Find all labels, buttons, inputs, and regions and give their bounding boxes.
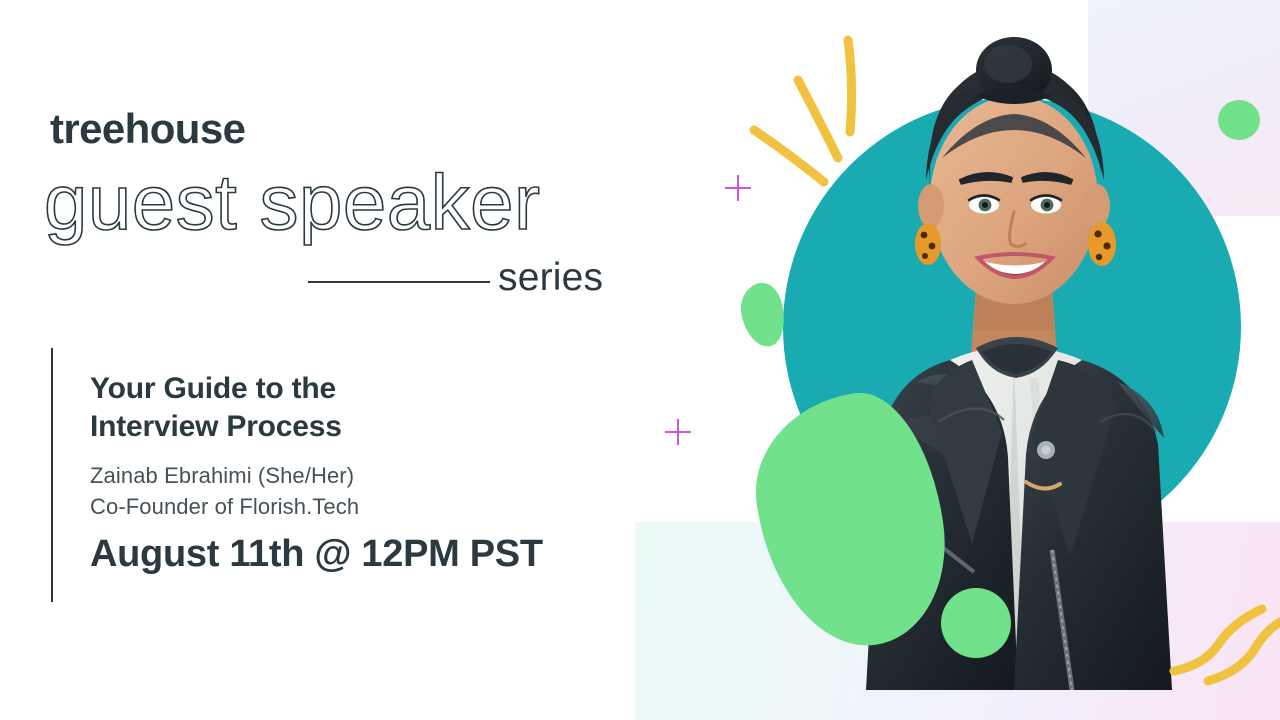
speaker-details: Zainab Ebrahimi (She/Her) Co-Founder of … (90, 460, 560, 522)
headline-guest-speaker: guest speaker (44, 163, 540, 241)
plus-mark-lower (665, 419, 691, 445)
promo-slide: treehouse guest speaker series Your Guid… (0, 0, 1280, 720)
series-label: series (498, 255, 603, 302)
yellow-burst-strokes (740, 28, 900, 193)
talk-title: Your Guide to the Interview Process (90, 370, 560, 447)
speaker-name: Zainab Ebrahimi (She/Her) (90, 460, 560, 491)
green-blob-small (736, 279, 790, 350)
talk-title-line-1: Your Guide to the (90, 370, 560, 408)
event-datetime: August 11th @ 12PM PST (90, 534, 650, 576)
green-dot-bottom (941, 588, 1011, 658)
series-row: series (300, 255, 630, 303)
vertical-accent-bar (51, 348, 53, 602)
plus-mark-upper (725, 175, 751, 201)
yellow-curve-strokes (1168, 585, 1280, 690)
series-divider-rule (308, 281, 490, 283)
treehouse-wordmark: treehouse (50, 108, 245, 150)
talk-title-line-2: Interview Process (90, 408, 560, 446)
speaker-role: Co-Founder of Florish.Tech (90, 491, 560, 522)
